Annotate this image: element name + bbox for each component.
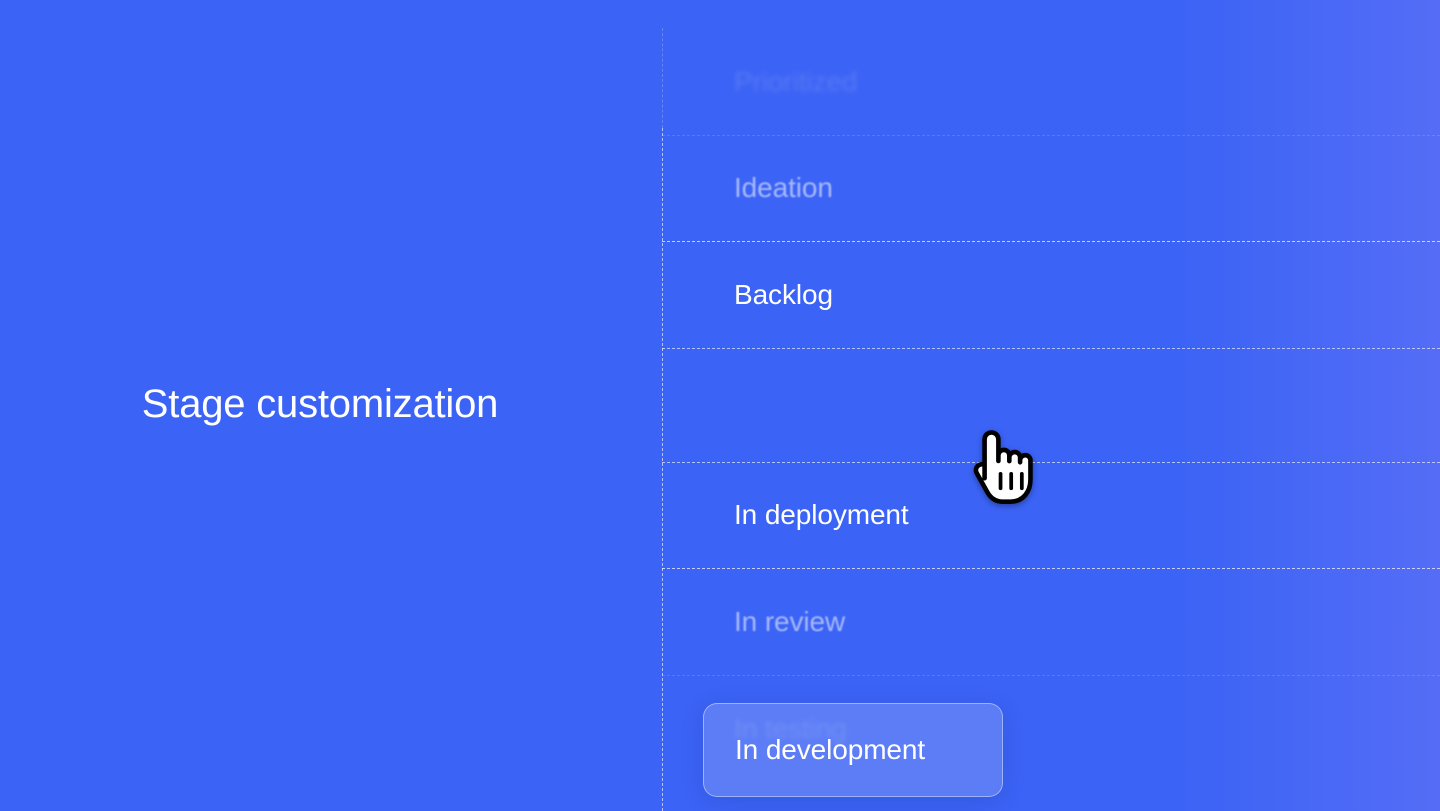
stage-label: Ideation	[734, 171, 833, 205]
stage-label: In deployment	[734, 498, 909, 532]
stage-row-backlog[interactable]: Backlog	[662, 241, 1440, 348]
stage-row-in-deployment[interactable]: In deployment	[662, 462, 1440, 568]
stage-label: In review	[734, 605, 845, 639]
stage-list: Prioritized Ideation Backlog In developm…	[662, 0, 1440, 811]
stage-label: Backlog	[734, 278, 833, 312]
stage-label: Prioritized	[734, 65, 857, 99]
stage-row-in-testing[interactable]: In testing	[662, 675, 1440, 783]
stage-row-prioritized[interactable]: Prioritized	[662, 28, 1440, 135]
stage-label: In testing	[734, 712, 847, 746]
canvas: Stage customization Prioritized Ideation…	[0, 0, 1440, 811]
stage-row-in-review[interactable]: In review	[662, 568, 1440, 675]
page-title: Stage customization	[0, 381, 640, 427]
stage-row-in-development[interactable]: In development	[662, 348, 1440, 462]
stage-row-ideation[interactable]: Ideation	[662, 135, 1440, 241]
